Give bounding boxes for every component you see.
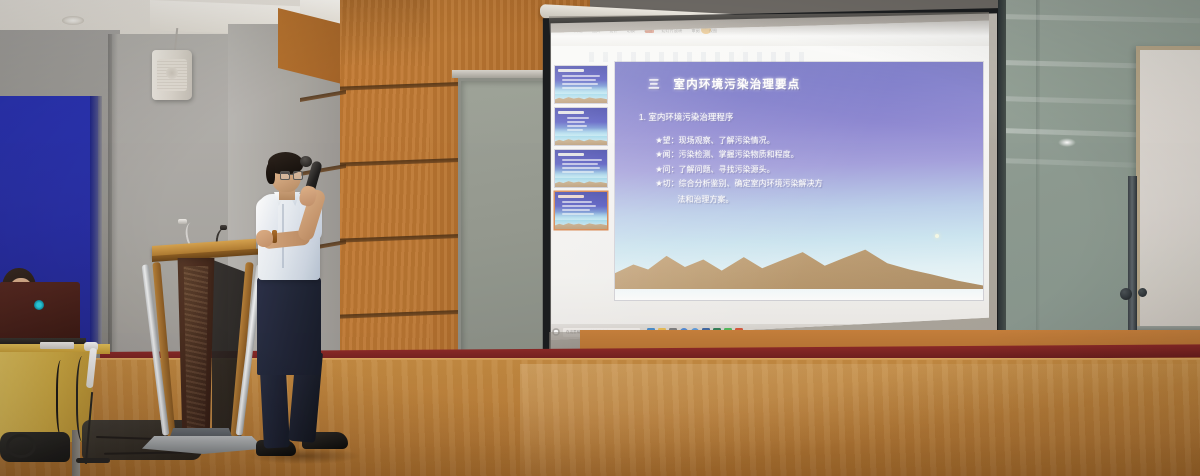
thumbnail-text-line: [562, 163, 598, 165]
presenter-glasses-icon: [280, 171, 301, 178]
wall-speaker-icon: [152, 50, 192, 100]
slide-thumbnail-selected[interactable]: [555, 192, 607, 229]
slide-mountain-shading: [615, 229, 983, 291]
presenter-hand-lower: [256, 230, 273, 247]
desk-cable: [56, 360, 68, 436]
laptop-logo-icon: [34, 300, 44, 310]
thumbnail-text-line: [567, 125, 587, 127]
thumbnail-text-line: [562, 205, 596, 207]
thumbnail-mountains: [555, 178, 607, 187]
thumbnail-title-line: [558, 111, 584, 114]
slide-bullet: ★闻：污染检测、掌握污染物质和程度。: [655, 150, 964, 160]
gooseneck-microphone-head: [220, 225, 227, 230]
thumbnail-title-line: [558, 195, 584, 198]
slide-thumbnail[interactable]: [555, 150, 607, 187]
slide-subtitle: 1. 室内环境污染治理程序: [639, 111, 733, 123]
active-slide[interactable]: 三 室内环境污染治理要点 1. 室内环境污染治理程序 ★望：现场观察、了解污染情…: [615, 62, 983, 300]
thumbnail-title-line: [558, 69, 584, 72]
thumbnail-mountains: [555, 220, 607, 229]
thumbnail-sky: [555, 212, 607, 220]
glasses-lens-left: [280, 171, 290, 180]
speaker-cone: [166, 67, 178, 79]
thumbnail-text-line: [562, 167, 600, 169]
microphone-stand-foot: [76, 458, 110, 463]
thumbnail-text-line: [562, 79, 596, 81]
start-button-icon[interactable]: [552, 328, 560, 336]
slide-bullet: ★望：现场观察、了解污染情况。: [655, 136, 964, 146]
thumbnail-text-line: [562, 201, 592, 203]
cable-coil-icon: [6, 434, 36, 458]
slide-bullet-continuation: 法和治理方案。: [677, 194, 964, 205]
thumbnail-text-line: [567, 117, 589, 119]
desk-remote-device: [40, 342, 74, 349]
thumbnail-title-line: [558, 153, 584, 156]
glass-light-reflection: [1058, 138, 1076, 147]
projected-desktop: 文件 开始 插入 设计 切换 动画 幻灯片放映 审阅 视图: [549, 20, 989, 340]
presenter-hair-side: [266, 162, 275, 184]
powerpoint-window: 文件 开始 插入 设计 切换 动画 幻灯片放映 审阅 视图: [549, 20, 989, 340]
thumbnail-text-line: [562, 83, 598, 85]
slide-title: 三 室内环境污染治理要点: [648, 76, 800, 92]
slide-thumbnail[interactable]: [555, 108, 607, 145]
thumbnail-sky: [555, 170, 607, 178]
slide-bullet: ★切：综合分析鉴别、确定室内环境污染解决方: [655, 179, 964, 189]
grey-notice-board: [458, 78, 556, 374]
thumbnail-text-line: [562, 209, 590, 211]
recessed-downlight-icon: [62, 16, 84, 25]
ribbon-tab-review[interactable]: 审阅: [691, 28, 699, 34]
lecture-hall-photo: 文件 开始 插入 设计 切换 动画 幻灯片放映 审阅 视图: [0, 0, 1200, 476]
thumbnail-text-line: [567, 121, 585, 123]
thumbnail-mountains: [555, 136, 607, 145]
slide-bullet: ★问：了解问题、寻找污染源头。: [655, 165, 964, 175]
slide-footer-band: [615, 289, 983, 300]
laptop-screen-back: [0, 282, 80, 340]
thumbnail-sky: [555, 128, 607, 136]
thumbnail-mountains: [555, 94, 607, 103]
slide-sun-icon: [935, 234, 939, 238]
blue-backdrop-edge: [90, 96, 102, 346]
slide-thumbnail[interactable]: [555, 66, 607, 103]
thumbnail-sky: [555, 86, 607, 94]
thumbnail-text-line: [562, 159, 602, 161]
wall-corner-shadow: [108, 34, 118, 364]
ribbon-command-icons[interactable]: [589, 52, 809, 62]
glasses-lens-right: [293, 171, 303, 180]
slide-bullet-list: ★望：现场观察、了解污染情况。 ★闻：污染检测、掌握污染物质和程度。 ★问：了解…: [655, 136, 964, 205]
board-lip: [452, 70, 556, 78]
whiteboard-adjust-knob[interactable]: [1120, 288, 1132, 300]
presenter-trousers: [257, 277, 321, 375]
slide-thumbnail-pane[interactable]: [555, 66, 609, 304]
gooseneck-microphone-head: [178, 219, 187, 224]
thumbnail-text-line: [562, 75, 600, 77]
whiteboard-adjust-knob-secondary[interactable]: [1138, 288, 1147, 297]
